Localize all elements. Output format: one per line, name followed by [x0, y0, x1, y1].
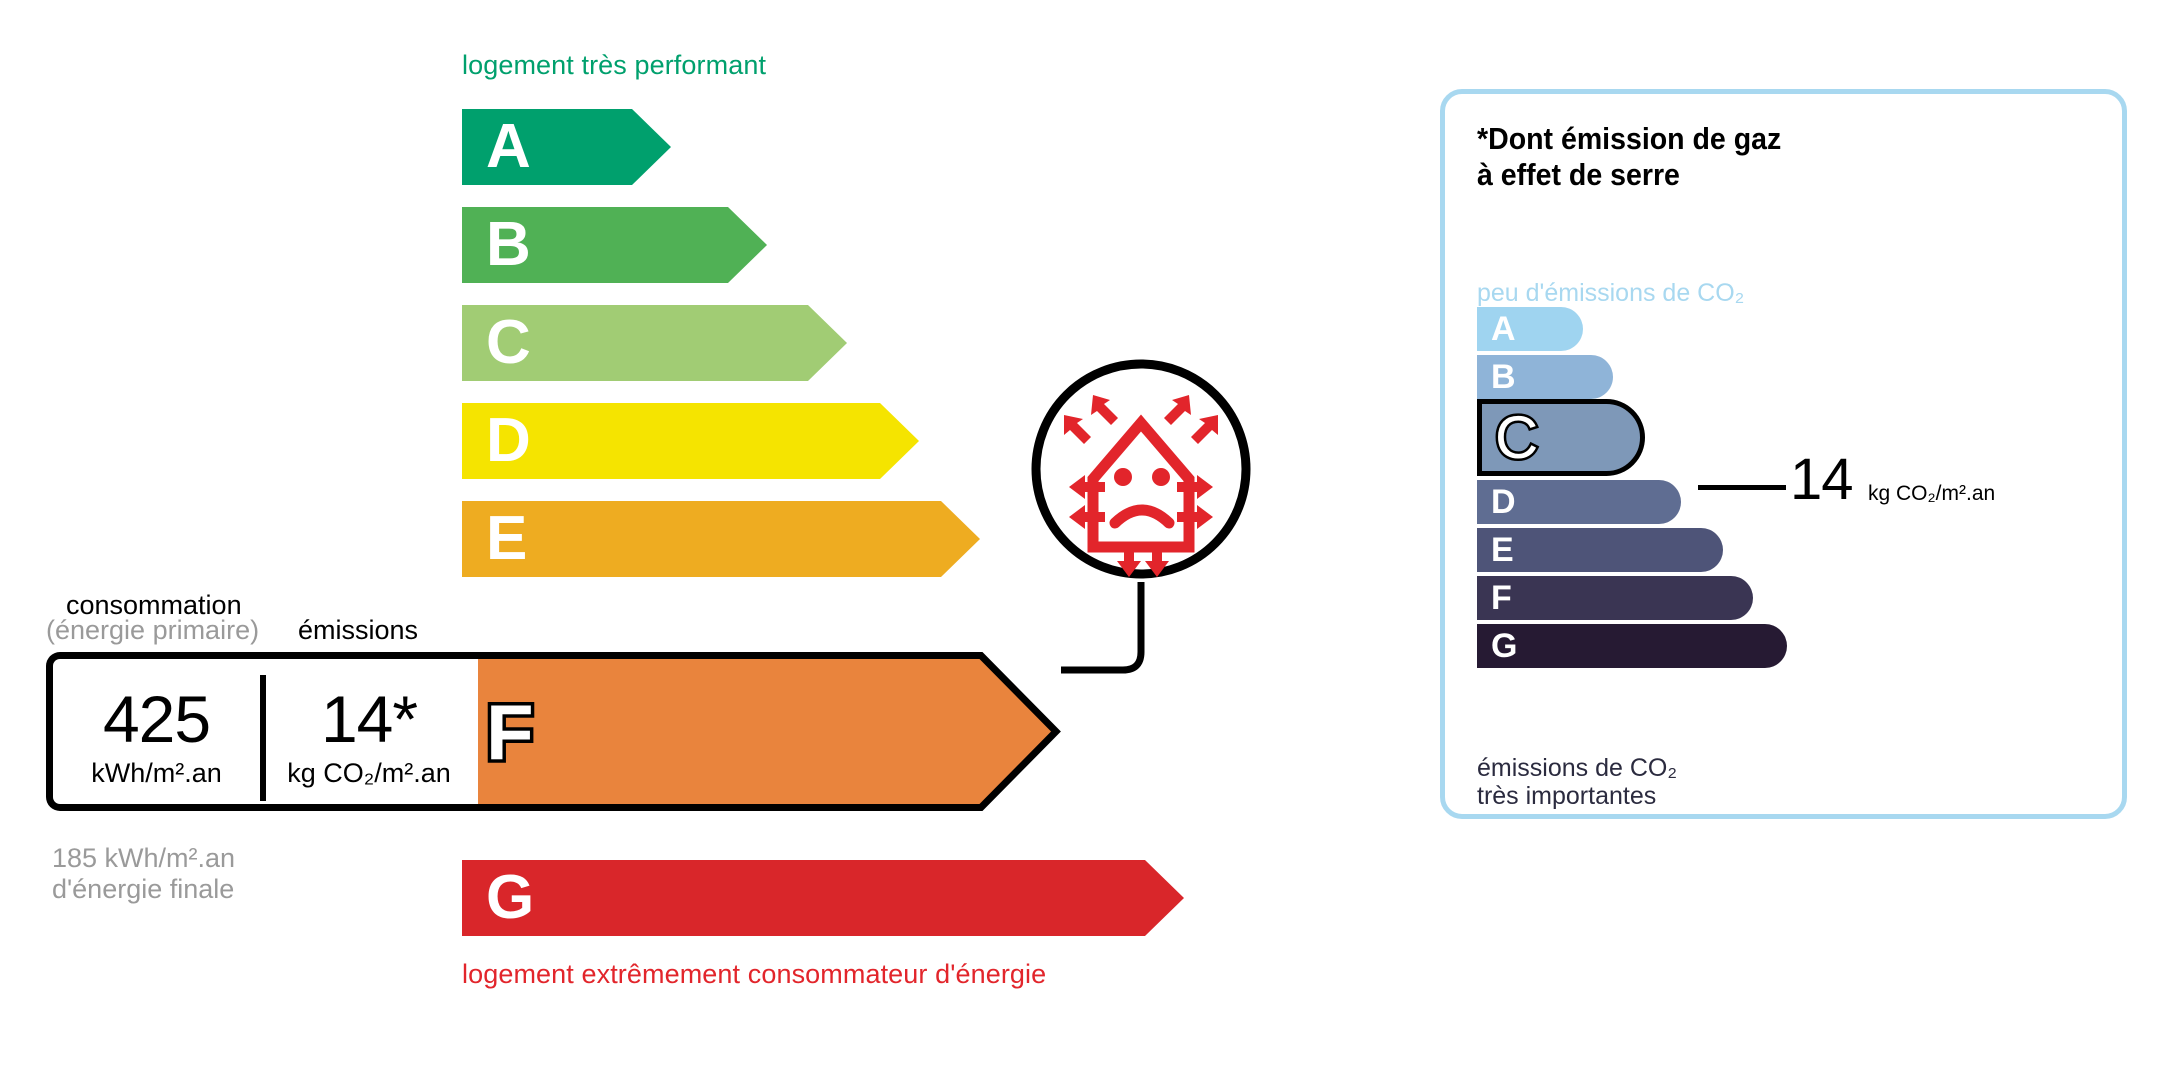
energy-bar-g: G: [462, 860, 1184, 936]
energy-bar-e-shape: [462, 501, 980, 577]
energy-bar-c: C: [462, 305, 847, 381]
emission-cell: 14* kg CO₂/m².an: [266, 659, 472, 804]
co2-bar-e: E: [1477, 528, 1723, 572]
co2-panel-title: *Dont émission de gaz à effet de serre: [1477, 121, 1781, 194]
energy-bar-d-shape: [462, 403, 919, 479]
energy-bar-e: E: [462, 501, 980, 577]
co2-callout-line: [1698, 485, 1786, 490]
emission-unit: kg CO₂/m².an: [266, 760, 472, 787]
co2-bar-a: A: [1477, 307, 1583, 351]
sad-house-badge: [1031, 357, 1251, 717]
co2-bar-a-letter: A: [1491, 312, 1516, 346]
co2-bottom-caption-line2: très importantes: [1477, 782, 1677, 810]
energy-bottom-caption: logement extrêmement consommateur d'éner…: [462, 959, 1046, 990]
primary-energy-cell: 425 kWh/m².an: [53, 659, 260, 804]
co2-bar-c-selected: C: [1477, 399, 1645, 476]
energy-bar-a: A: [462, 109, 671, 185]
co2-bar-c-letter: C: [1495, 408, 1538, 468]
co2-value-unit: kg CO₂/m².an: [1868, 483, 1995, 504]
co2-bar-g-letter: G: [1491, 629, 1517, 663]
final-energy-note: 185 kWh/m².an d'énergie finale: [52, 843, 235, 905]
co2-bar-f: F: [1477, 576, 1753, 620]
co2-bar-f-letter: F: [1491, 581, 1512, 615]
energy-bar-a-shape: [462, 109, 671, 185]
co2-bar-b: B: [1477, 355, 1613, 399]
primary-energy-value: 425: [53, 686, 260, 752]
energie-primaire-label: (énergie primaire): [46, 615, 259, 646]
co2-bottom-caption: émissions de CO₂ très importantes: [1477, 754, 1677, 810]
primary-energy-unit: kWh/m².an: [53, 760, 260, 787]
co2-panel: *Dont émission de gaz à effet de serre p…: [1440, 89, 2127, 819]
co2-bottom-caption-line1: émissions de CO₂: [1477, 754, 1677, 782]
energy-performance-chart: logement très performant A B C: [0, 0, 1380, 1079]
final-energy-line2: d'énergie finale: [52, 874, 235, 905]
dpe-diagram: logement très performant A B C: [0, 0, 2169, 1079]
emissions-label: émissions: [298, 615, 418, 646]
co2-bar-e-letter: E: [1491, 533, 1514, 567]
co2-bar-f-shape: [1477, 576, 1753, 620]
co2-top-caption: peu d'émissions de CO₂: [1477, 279, 1744, 308]
energy-bar-b: B: [462, 207, 767, 283]
energy-bar-d: D: [462, 403, 919, 479]
energy-bar-f-selected: F: [462, 652, 1062, 811]
energy-bar-b-shape: [462, 207, 767, 283]
energy-top-caption: logement très performant: [462, 50, 766, 81]
sad-house-heat-loss-icon: [1031, 357, 1251, 717]
energy-bar-f-shape: [462, 652, 1062, 811]
co2-bar-b-letter: B: [1491, 360, 1516, 394]
emission-value: 14*: [266, 686, 472, 752]
value-box: 425 kWh/m².an 14* kg CO₂/m².an: [46, 652, 478, 811]
co2-title-line2: à effet de serre: [1477, 157, 1781, 193]
co2-bar-d-letter: D: [1491, 485, 1516, 519]
final-energy-line1: 185 kWh/m².an: [52, 843, 235, 874]
co2-value: 14: [1790, 451, 1853, 509]
co2-bar-d: D: [1477, 480, 1681, 524]
co2-bar-g-shape: [1477, 624, 1787, 668]
co2-bar-g: G: [1477, 624, 1787, 668]
energy-bar-c-shape: [462, 305, 847, 381]
energy-bar-g-shape: [462, 860, 1184, 936]
co2-title-line1: *Dont émission de gaz: [1477, 121, 1781, 157]
co2-bar-e-shape: [1477, 528, 1723, 572]
